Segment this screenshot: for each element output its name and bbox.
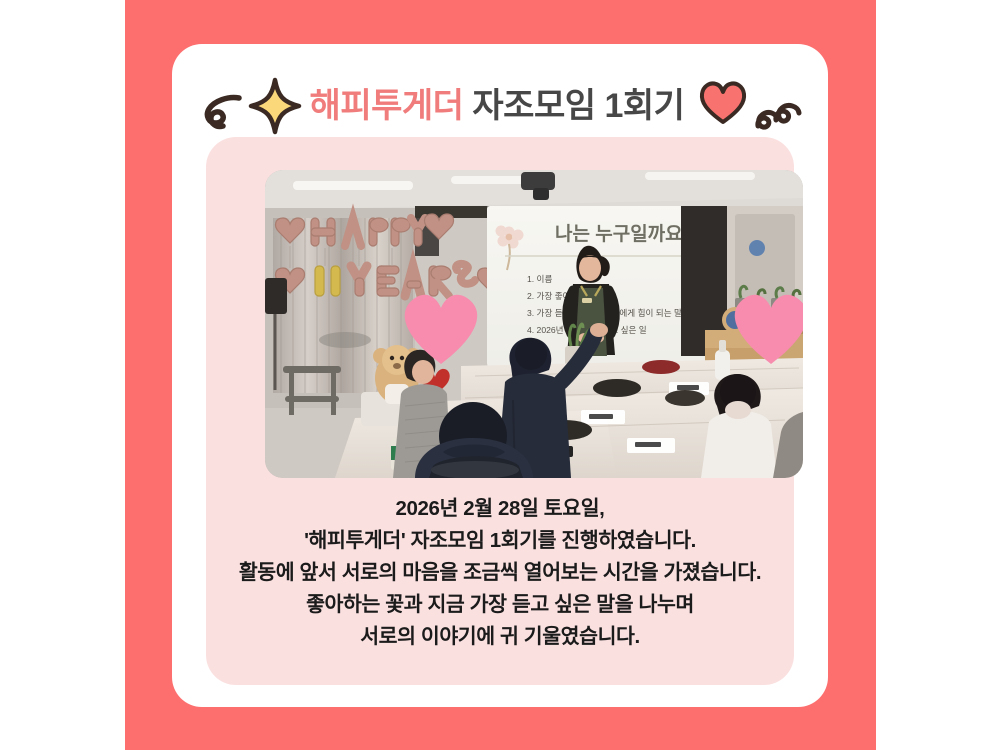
- event-photo: 나는 누구일까요? 1. 이름 2. 가장 좋아하는 꽃 3. 가장 듣고 싶은…: [265, 170, 803, 478]
- title-main: 자조모임 1회기: [472, 87, 684, 125]
- caption-line-3: 활동에 앞서 서로의 마음을 조금씩 열어보는 시간을 가졌습니다.: [224, 557, 776, 589]
- caption-line-2: '해피투게더' 자조모임 1회기를 진행하였습니다.: [224, 525, 776, 557]
- pink-content-panel: 나는 누구일까요? 1. 이름 2. 가장 좋아하는 꽃 3. 가장 듣고 싶은…: [206, 137, 794, 685]
- caption-line-1: 2026년 2월 28일 토요일,: [224, 493, 776, 525]
- content-card: 해피투게더 자조모임 1회기: [172, 44, 828, 707]
- heart-icon: [698, 80, 748, 126]
- caption-block: 2026년 2월 28일 토요일, '해피투게더' 자조모임 1회기를 진행하였…: [224, 493, 776, 653]
- poster-canvas: 해피투게더 자조모임 1회기: [0, 0, 1000, 750]
- svg-text:1. 이름: 1. 이름: [527, 274, 552, 284]
- svg-text:나는 누구일까요?: 나는 누구일까요?: [555, 223, 694, 245]
- event-photo-illustration: 나는 누구일까요? 1. 이름 2. 가장 좋아하는 꽃 3. 가장 듣고 싶은…: [265, 170, 803, 478]
- caption-line-5: 서로의 이야기에 귀 기울였습니다.: [224, 621, 776, 653]
- title-accent: 해피투게더: [310, 87, 464, 125]
- swirl-left-icon: [198, 92, 242, 132]
- swirl-right-icon: [754, 96, 802, 132]
- sparkle-star-icon: [248, 77, 302, 135]
- caption-line-4: 좋아하는 꽃과 지금 가장 듣고 싶은 말을 나누며: [224, 589, 776, 621]
- page-title: 해피투게더 자조모임 1회기: [310, 89, 685, 123]
